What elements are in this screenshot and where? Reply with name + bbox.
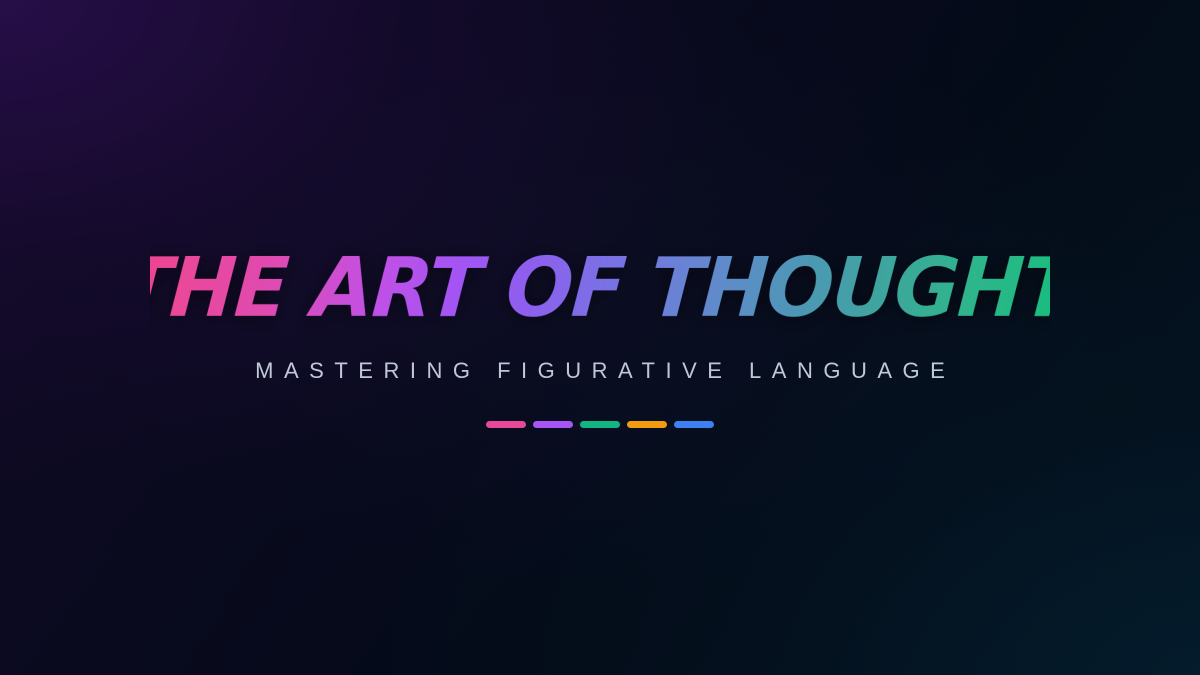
accent-pill-purple	[533, 421, 573, 428]
slide-content: THE ART OF THOUGHT MASTERING FIGURATIVE …	[0, 0, 1200, 675]
title-container: THE ART OF THOUGHT	[150, 243, 1050, 335]
accent-pill-green	[580, 421, 620, 428]
page-title: THE ART OF THOUGHT	[150, 243, 1050, 335]
accent-pill-group	[486, 421, 714, 428]
title-slide: THE ART OF THOUGHT MASTERING FIGURATIVE …	[0, 0, 1200, 675]
accent-pill-orange	[627, 421, 667, 428]
accent-pill-blue	[674, 421, 714, 428]
accent-pill-pink	[486, 421, 526, 428]
slide-subtitle: MASTERING FIGURATIVE LANGUAGE	[245, 360, 956, 382]
